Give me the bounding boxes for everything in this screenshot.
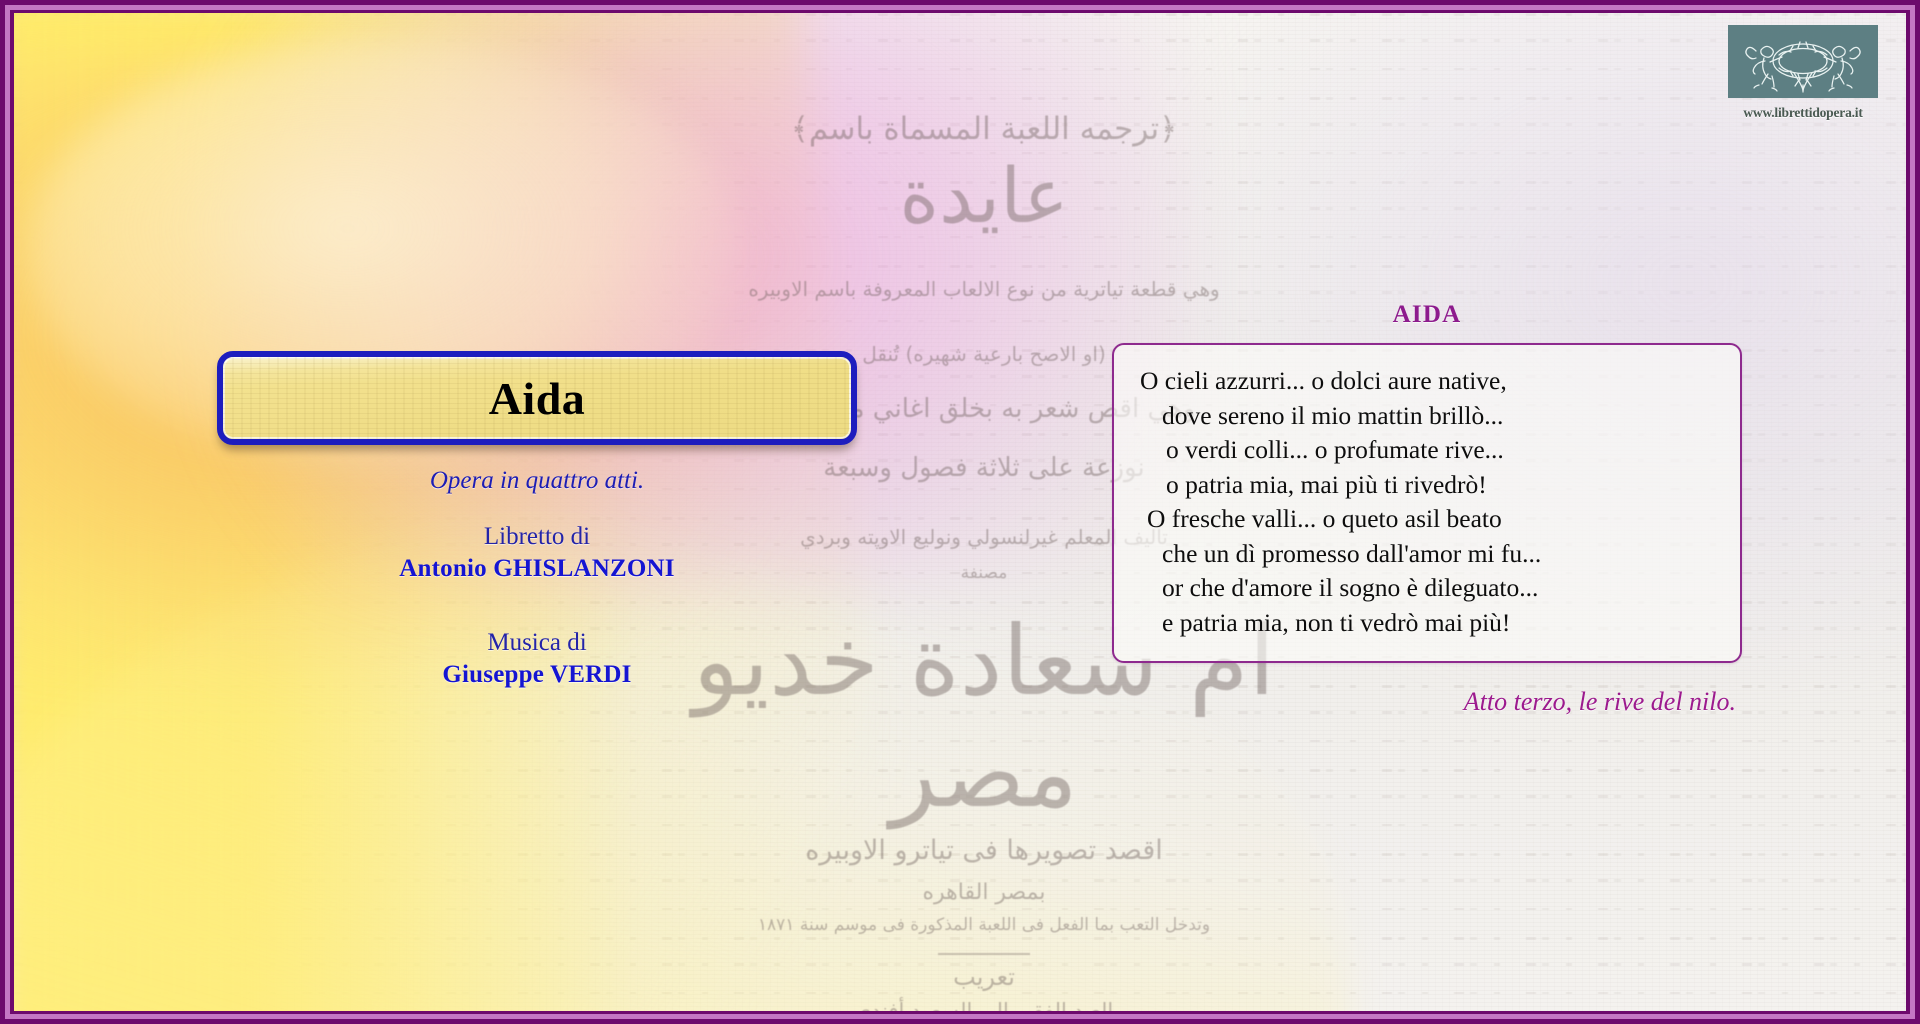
- aria-line: dove sereno il mio mattin brillò...: [1140, 402, 1714, 431]
- opera-title: Aida: [489, 372, 586, 425]
- aria-line: che un dì promesso dall'amor mi fu...: [1140, 540, 1714, 569]
- music-credit: Musica di Giuseppe VERDI: [217, 627, 857, 691]
- aria-line: e patria mia, non ti vedrò mai più!: [1140, 609, 1714, 638]
- aria-text-panel: O cieli azzurri... o dolci aure native, …: [1112, 343, 1742, 663]
- music-author-name: Giuseppe VERDI: [217, 659, 857, 691]
- page-frame: ﴿ترجمه اللعبة المسماة باسم﴾ عايدة وهي قط…: [0, 0, 1920, 1024]
- music-role-label: Musica di: [217, 627, 857, 659]
- opera-subtitle: Opera in quattro atti.: [217, 467, 857, 495]
- libretto-role-label: Libretto di: [217, 521, 857, 553]
- aria-line: O fresche valli... o queto asil beato: [1140, 505, 1714, 534]
- libretto-author-name: Antonio GHISLANZONI: [217, 553, 857, 585]
- wreath-cherubs-emblem-icon: [1728, 25, 1878, 98]
- page-canvas: ﴿ترجمه اللعبة المسماة باسم﴾ عايدة وهي قط…: [14, 13, 1906, 1011]
- site-logo[interactable]: www.librettidopera.it: [1728, 25, 1878, 121]
- aria-line: o patria mia, mai più ti rivedrò!: [1140, 471, 1714, 500]
- libretto-credit: Libretto di Antonio GHISLANZONI: [217, 521, 857, 585]
- aria-block: AIDA O cieli azzurri... o dolci aure nat…: [1112, 301, 1742, 717]
- aria-scene-caption: Atto terzo, le rive del nilo.: [1112, 687, 1742, 717]
- opera-title-plate[interactable]: Aida: [217, 351, 857, 445]
- aria-character-heading: AIDA: [1112, 301, 1742, 329]
- content-layer: www.librettidopera.it Aida Opera in quat…: [14, 13, 1906, 1011]
- aria-line: or che d'amore il sogno è dileguato...: [1140, 574, 1714, 603]
- aria-line: O cieli azzurri... o dolci aure native,: [1140, 367, 1714, 396]
- site-url-label: www.librettidopera.it: [1728, 105, 1878, 121]
- opera-identity-block: Aida Opera in quattro atti. Libretto di …: [217, 351, 857, 691]
- aria-line: o verdi colli... o profumate rive...: [1140, 436, 1714, 465]
